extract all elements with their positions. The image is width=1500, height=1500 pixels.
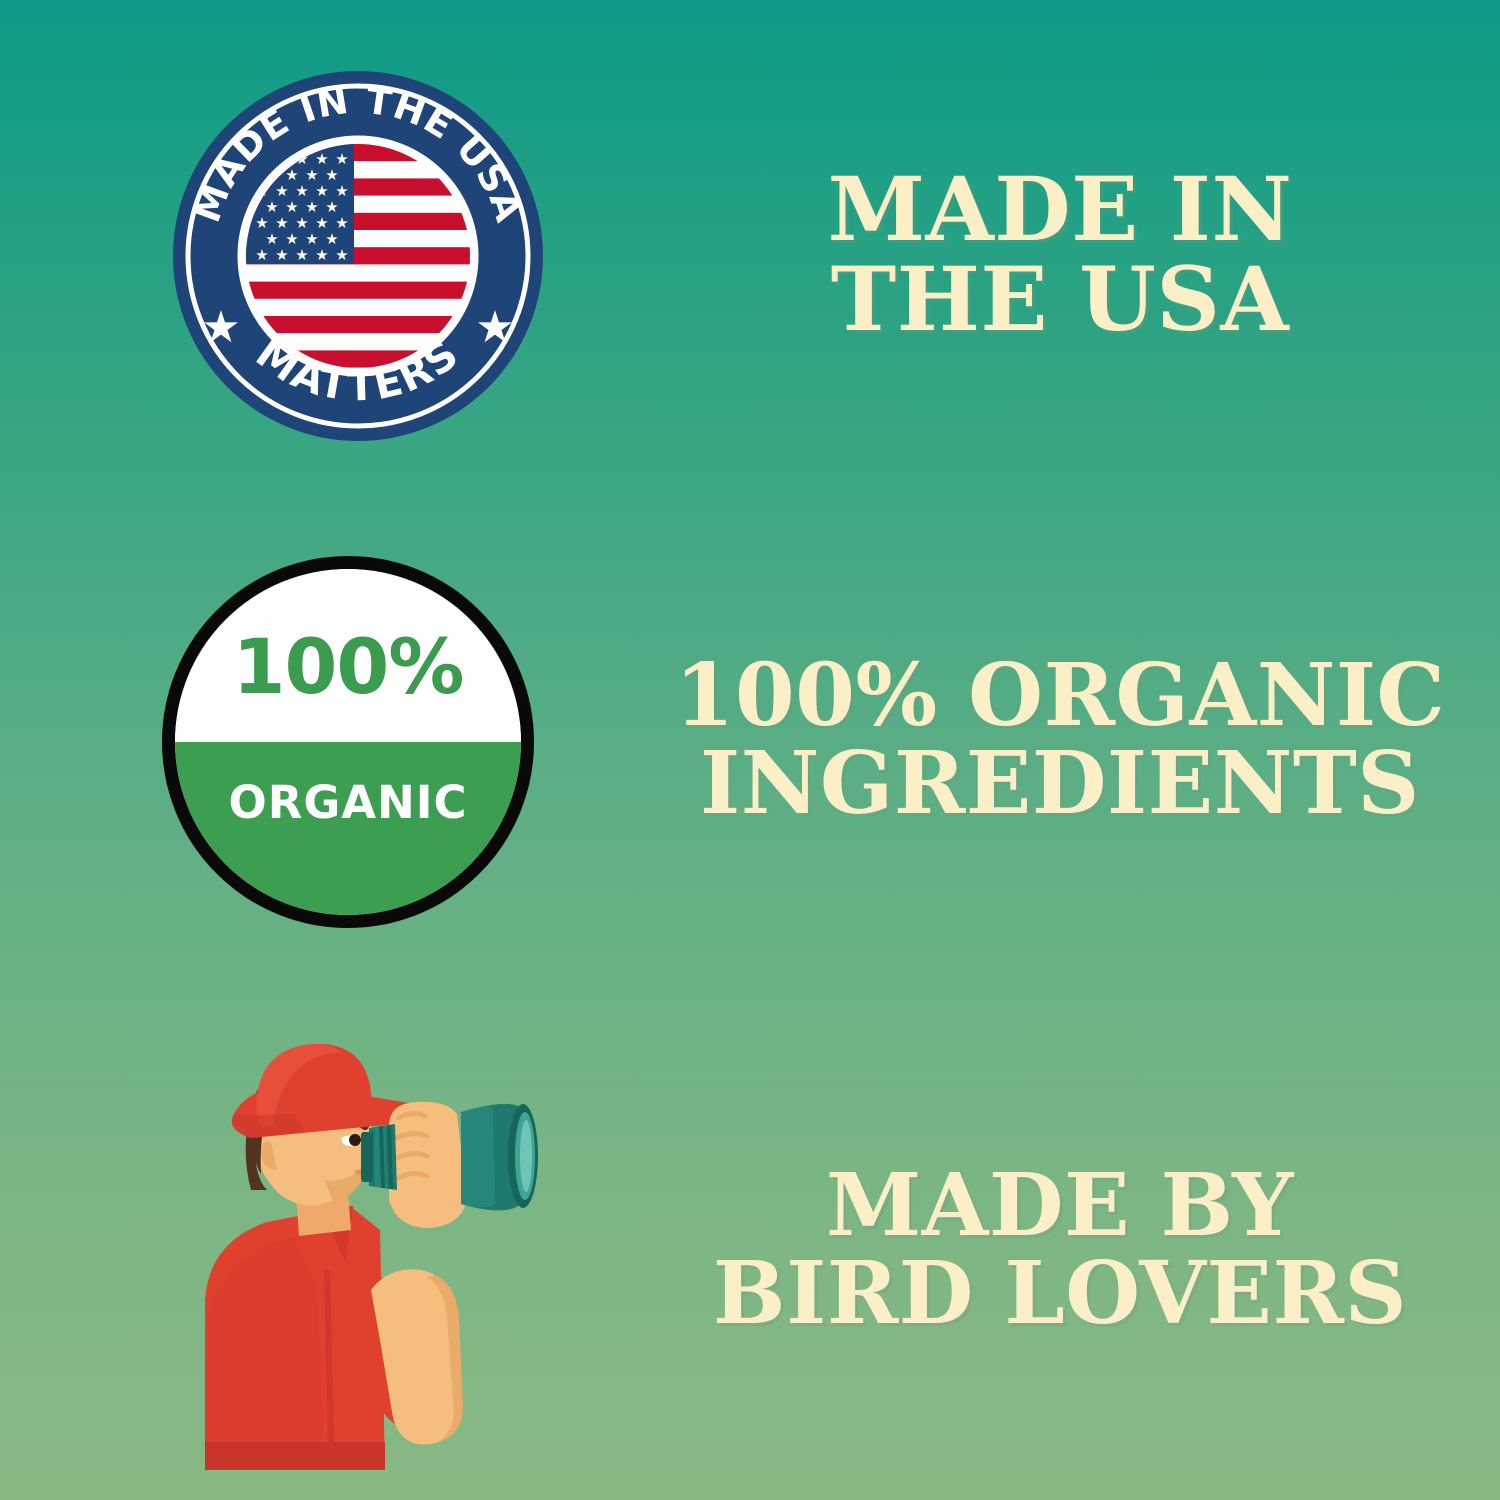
made-in-usa-seal-icon: ★★★★★ ★★★★ ★★★★★ ★★★★ ★★★★★ ★★★★ ★★★★★	[170, 68, 546, 444]
svg-text:★: ★	[275, 246, 288, 264]
organic-seal-icon: 100% ORGANIC	[162, 556, 534, 928]
svg-text:★: ★	[255, 246, 268, 264]
svg-text:★: ★	[295, 246, 308, 264]
organic-seal-top-half: 100%	[175, 569, 521, 742]
headline-line: THE USA	[828, 255, 1293, 345]
birdwatcher-icon	[175, 1030, 575, 1470]
organic-text-cell: 100% ORGANIC INGREDIENTS	[620, 530, 1500, 950]
feature-row-bird-lovers: MADE BY BIRD LOVERS	[0, 1030, 1500, 1470]
made-in-usa-badge-cell: ★★★★★ ★★★★ ★★★★★ ★★★★ ★★★★★ ★★★★ ★★★★★	[0, 40, 620, 470]
headline-organic: 100% ORGANIC INGREDIENTS	[674, 652, 1445, 827]
feature-row-made-in-usa: ★★★★★ ★★★★ ★★★★★ ★★★★ ★★★★★ ★★★★ ★★★★★	[0, 40, 1500, 470]
seal-star-right-icon: ★	[475, 302, 514, 353]
organic-percent-text: 100%	[233, 629, 464, 705]
bird-lovers-text-cell: MADE BY BIRD LOVERS	[620, 1030, 1500, 1470]
organic-seal-bottom-half: ORGANIC	[175, 742, 521, 915]
headline-line: MADE BY	[713, 1162, 1407, 1250]
organic-badge-cell: 100% ORGANIC	[0, 530, 620, 950]
svg-text:★: ★	[335, 246, 348, 264]
promo-poster: ★★★★★ ★★★★ ★★★★★ ★★★★ ★★★★★ ★★★★ ★★★★★	[0, 0, 1500, 1500]
headline-line: INGREDIENTS	[674, 740, 1445, 828]
seal-star-left-icon: ★	[201, 302, 240, 353]
headline-line: MADE IN	[828, 165, 1293, 255]
birdwatcher-illustration-cell	[0, 1030, 620, 1470]
organic-label-text: ORGANIC	[228, 780, 467, 825]
headline-bird-lovers: MADE BY BIRD LOVERS	[713, 1162, 1407, 1337]
headline-line: 100% ORGANIC	[674, 652, 1445, 740]
headline-line: BIRD LOVERS	[713, 1250, 1407, 1338]
made-in-usa-text-cell: MADE IN THE USA	[620, 40, 1500, 470]
svg-text:★: ★	[315, 246, 328, 264]
headline-made-in-usa: MADE IN THE USA	[828, 165, 1293, 345]
feature-row-organic: 100% ORGANIC 100% ORGANIC INGREDIENTS	[0, 530, 1500, 950]
